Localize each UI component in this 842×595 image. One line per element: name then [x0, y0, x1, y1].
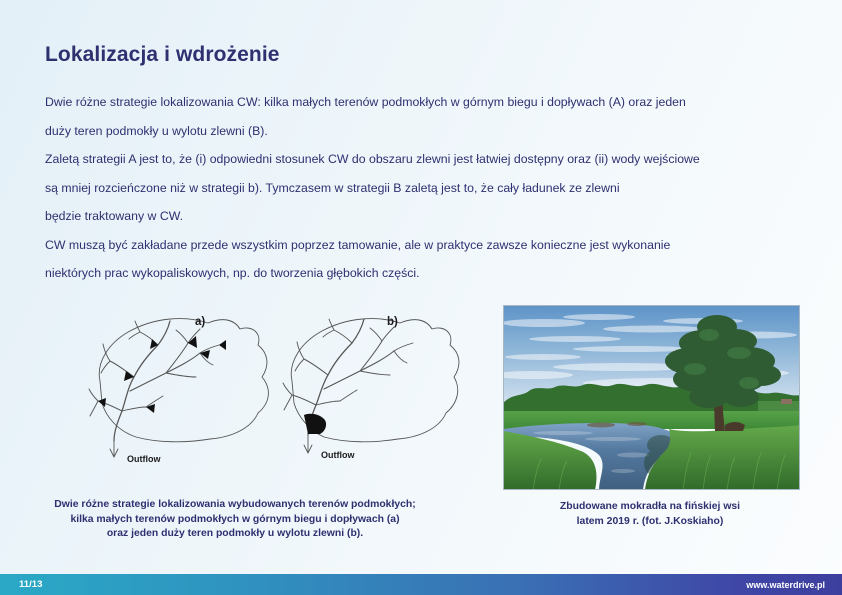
tributary-b-l2b — [284, 395, 292, 410]
tributary-b-r3 — [394, 343, 413, 351]
tributary-b-r2a — [382, 327, 394, 341]
wetland-photo-svg — [503, 305, 800, 490]
wetland-markers-b — [304, 414, 326, 434]
tributary-a-t1b — [129, 332, 140, 339]
tributary-a-l2b — [90, 401, 98, 416]
wetland-marker — [219, 340, 226, 350]
tributary-a-r2 — [166, 343, 188, 373]
tributary-b-r4 — [394, 351, 407, 363]
tributary-a-r1 — [130, 353, 200, 391]
text-line: Zaletą strategii A jest to, że (i) odpow… — [45, 145, 805, 174]
wetland-marker — [146, 404, 155, 413]
tributary-b-l1 — [304, 359, 328, 375]
tributary-a-l1b — [101, 361, 110, 373]
text-line: duży teren podmokły u wylotu zlewni (B). — [45, 117, 805, 146]
body-text-block: Dwie różne strategie lokalizowania CW: k… — [45, 88, 805, 288]
caption-line: oraz jeden duży teren podmokły u wylotu … — [30, 527, 440, 542]
wetland-marker-large — [304, 414, 326, 434]
wetland-marker — [150, 339, 158, 349]
watershed-panel-a — [89, 319, 268, 457]
tributary-b-r2b — [370, 328, 382, 341]
paragraph-1: Dwie różne strategie lokalizowania CW: k… — [45, 88, 805, 145]
caption-line: Dwie różne strategie lokalizowania wybud… — [30, 498, 440, 513]
caption-line: Zbudowane mokradła na fińskiej wsi — [490, 500, 810, 515]
panel-label-b: b) — [387, 316, 398, 328]
tributary-b-r2 — [360, 341, 382, 371]
tributary-a-b1 — [122, 407, 146, 411]
tributary-a-r2b — [176, 330, 188, 343]
footer-url[interactable]: www.waterdrive.pl — [746, 580, 825, 590]
paragraph-3: CW muszą być zakładane przede wszystkim … — [45, 231, 805, 288]
text-line: są mniej rozcieńczone niż w strategii b)… — [45, 174, 805, 203]
photo-far-field — [758, 401, 800, 411]
tributary-b-l2 — [292, 395, 316, 405]
paragraph-2: Zaletą strategii A jest to, że (i) odpow… — [45, 145, 805, 231]
photo-far-building — [781, 399, 792, 404]
caption-right: Zbudowane mokradła na fińskiej wsi latem… — [490, 500, 810, 529]
wetland-marker — [188, 336, 197, 348]
page-number: 11/13 — [19, 579, 42, 590]
main-stem-a — [114, 321, 170, 441]
outflow-label-b: Outflow — [321, 450, 355, 460]
tributary-b-r1 — [324, 351, 394, 389]
tributary-b-t1b — [323, 330, 334, 337]
tributary-a-r5 — [166, 373, 196, 377]
tributary-b-l2a — [283, 383, 292, 395]
caption-line: kilka małych terenów podmokłych w górnym… — [30, 513, 440, 528]
text-line: CW muszą być zakładane przede wszystkim … — [45, 231, 805, 260]
caption-left: Dwie różne strategie lokalizowania wybud… — [30, 498, 440, 542]
tributary-b-t1 — [334, 330, 352, 343]
wetland-photo — [503, 305, 800, 490]
tributary-b-t1a — [329, 319, 334, 330]
caption-line: latem 2019 r. (fot. J.Koskiaho) — [490, 515, 810, 530]
tributary-b-l1a — [297, 342, 304, 359]
text-line: niektórych prac wykopaliskowych, np. do … — [45, 259, 805, 288]
panel-label-a: a) — [195, 316, 205, 328]
slide-footer: 11/13 www.waterdrive.pl — [0, 574, 842, 595]
watershed-diagram-svg: Outflow a) — [62, 303, 462, 483]
text-line: będzie traktowany w CW. — [45, 202, 805, 231]
slide-canvas: Lokalizacja i wdrożenie Dwie różne strat… — [0, 0, 842, 595]
page-title: Lokalizacja i wdrożenie — [45, 43, 280, 67]
outflow-label-a: Outflow — [127, 454, 161, 464]
tributary-b-l1b — [295, 359, 304, 371]
tributary-a-l2a — [89, 389, 98, 401]
tributary-b-b1a — [340, 390, 357, 401]
watershed-diagram-figure: Outflow a) — [62, 303, 462, 483]
text-line: Dwie różne strategie lokalizowania CW: k… — [45, 88, 805, 117]
tributary-b-r5 — [360, 371, 390, 375]
tributary-b-b1 — [316, 401, 340, 405]
